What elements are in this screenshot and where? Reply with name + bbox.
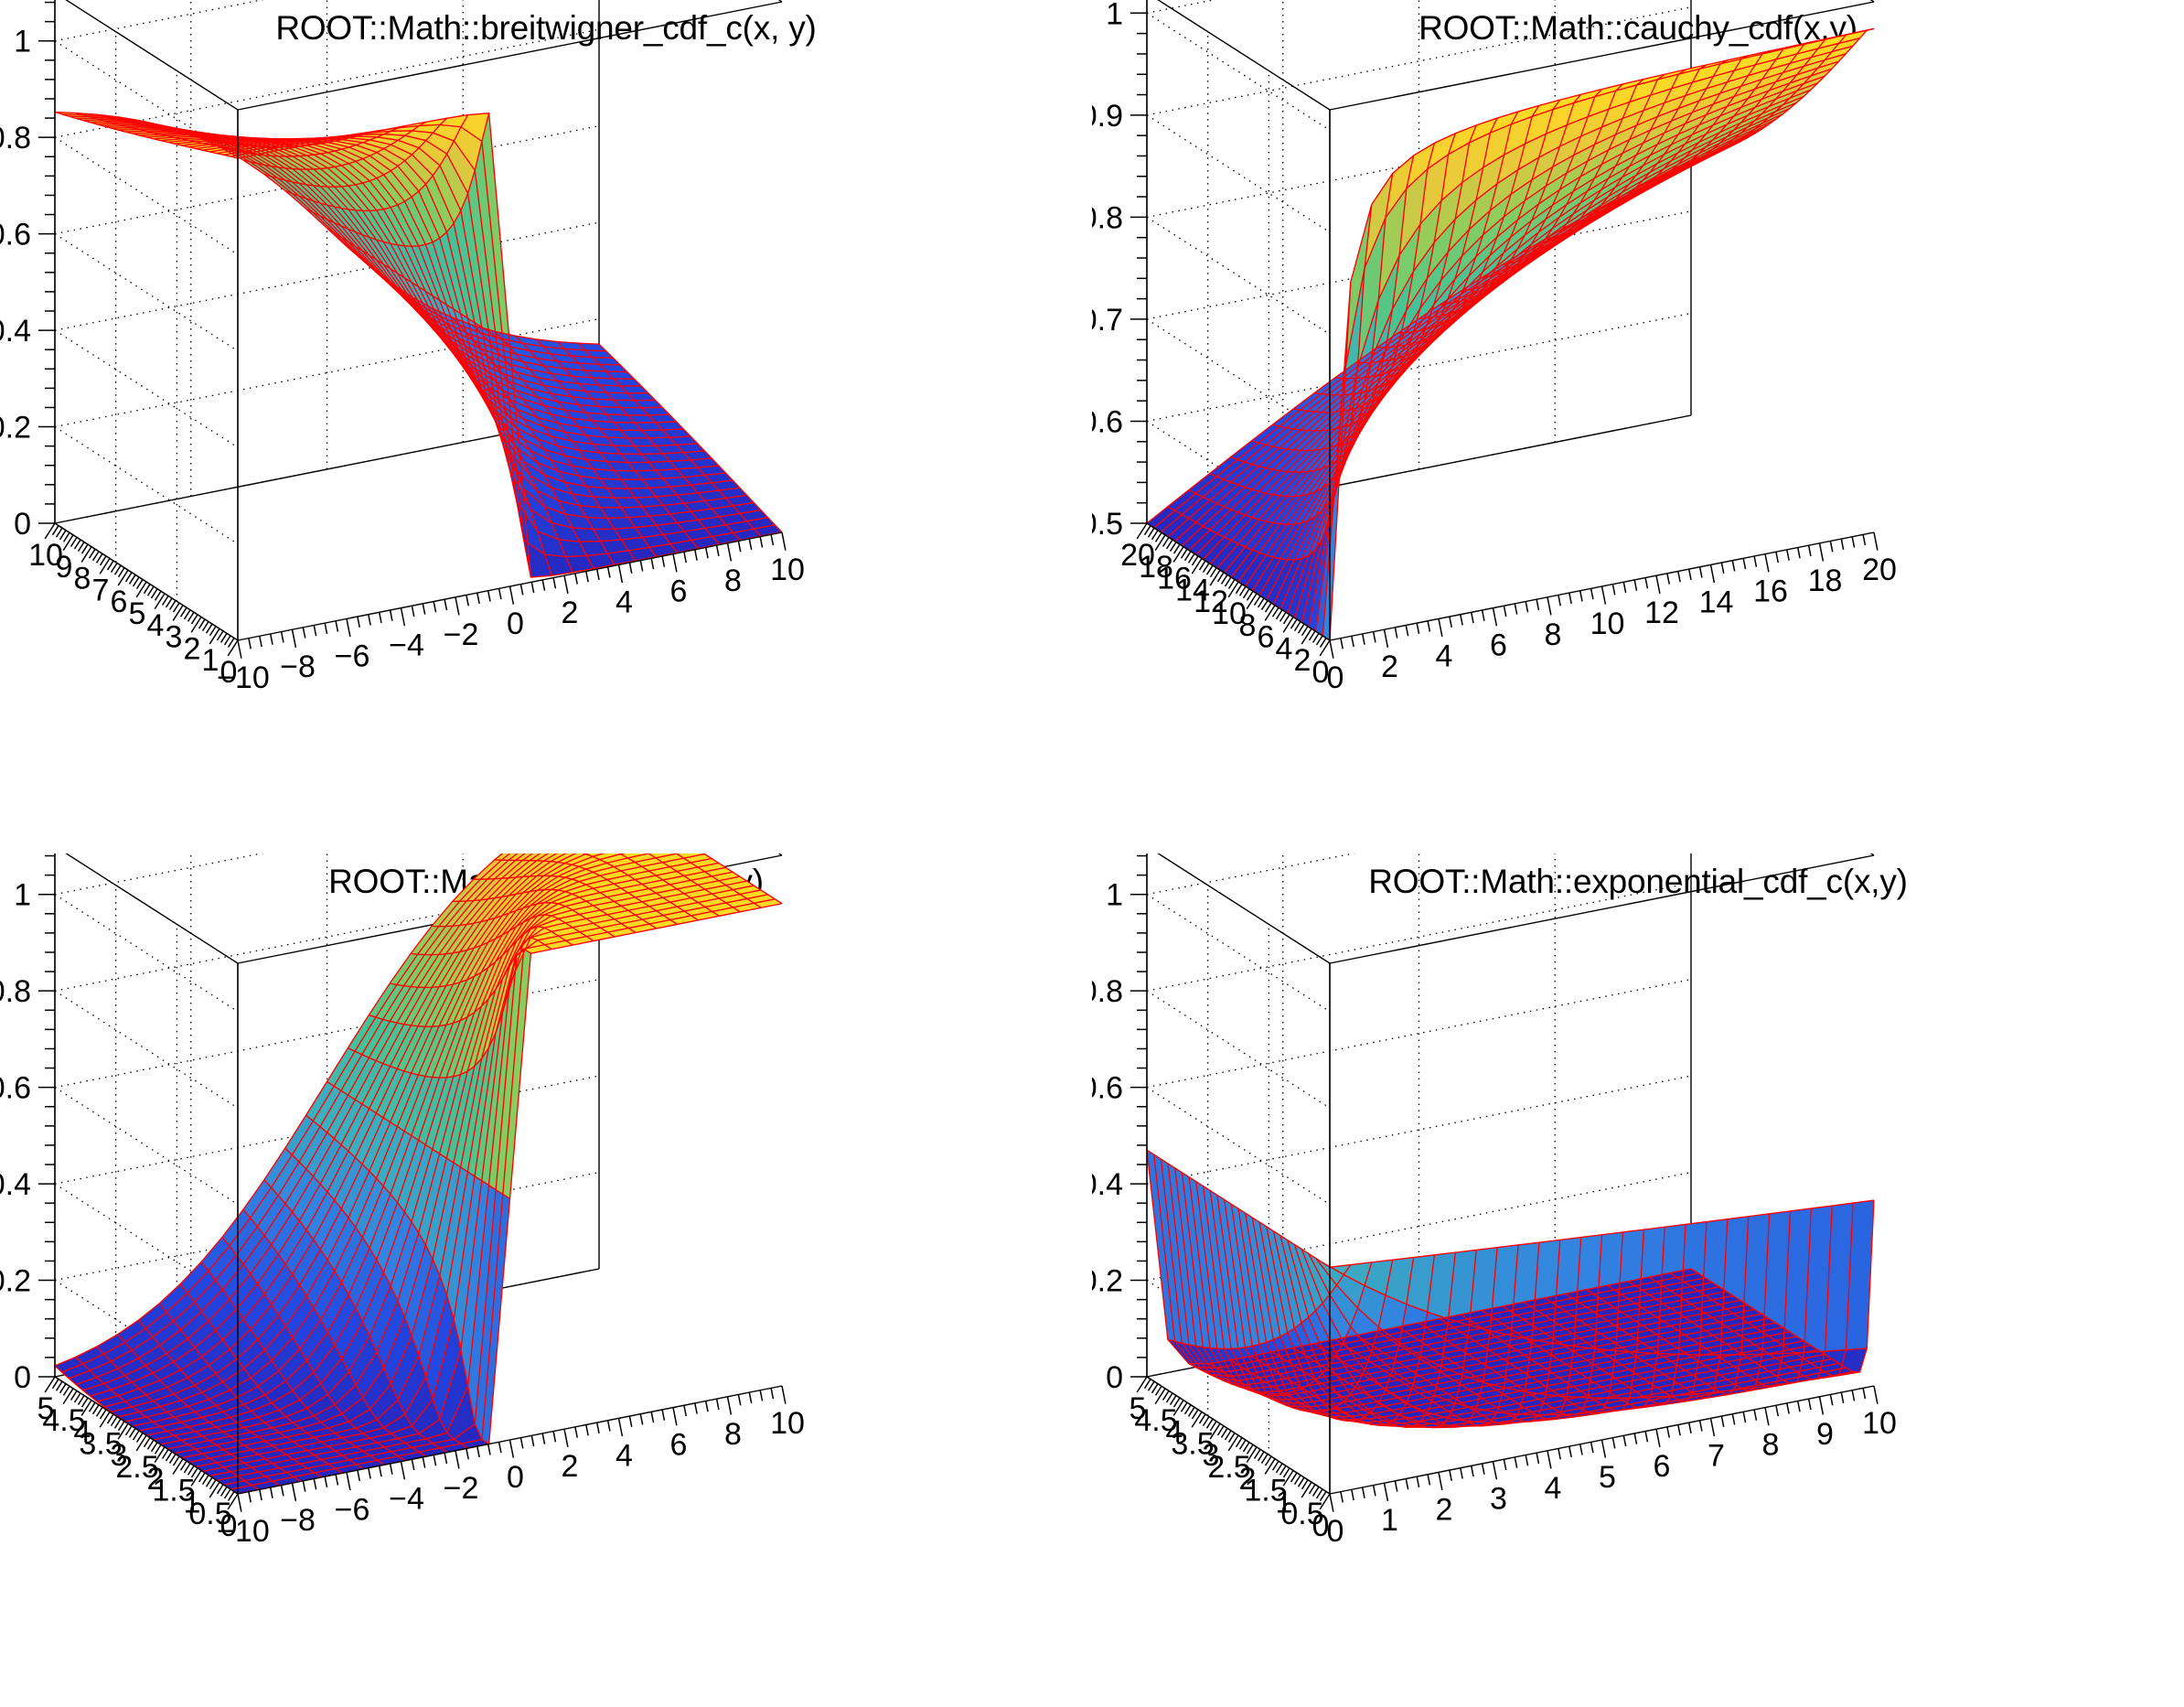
x-tick-label: −4 <box>389 1482 424 1517</box>
y-tick-label: 2 <box>184 631 201 666</box>
pad-cauchy[interactable]: ROOT::Math::cauchy_cdf(x,y) 0.50.60.70.8… <box>1092 0 2184 853</box>
x-tick-label: −4 <box>389 628 424 663</box>
z-tick-label: 1 <box>14 25 31 59</box>
figure-canvas: ROOT::Math::breitwigner_cdf_c(x, y) 00.2… <box>0 0 2184 1707</box>
surface-plot-normal[interactable]: 00.20.40.60.81−10−8−6−4−2024681054.543.5… <box>0 853 1092 1707</box>
x-tick-label: 2 <box>562 1449 579 1484</box>
z-tick-label: 0.2 <box>0 411 31 446</box>
x-tick-label: 2 <box>1381 650 1398 684</box>
z-tick-label: 0.4 <box>0 1167 31 1202</box>
x-tick-label: 4 <box>616 585 633 619</box>
x-tick-label: 7 <box>1708 1438 1725 1473</box>
z-tick-label: 0.6 <box>1092 1071 1123 1106</box>
z-tick-label: 1 <box>14 878 31 913</box>
z-tick-label: 0.8 <box>1092 974 1123 1009</box>
x-tick-label: 10 <box>1590 607 1625 641</box>
x-tick-label: −2 <box>444 617 479 652</box>
pad-normal[interactable]: ROOT::Math::normal_cdf(x,y) 00.20.40.60.… <box>0 853 1092 1707</box>
x-tick-label: 6 <box>670 1428 688 1463</box>
x-tick-label: 14 <box>1699 585 1734 619</box>
x-tick-label: 18 <box>1808 564 1843 598</box>
x-tick-label: 6 <box>670 574 688 609</box>
x-tick-label: 1 <box>1381 1503 1398 1538</box>
x-tick-label: 5 <box>1599 1460 1616 1495</box>
x-tick-label: 8 <box>724 1417 742 1452</box>
y-tick-label: 7 <box>92 573 110 607</box>
x-tick-label: 4 <box>616 1438 633 1473</box>
surface-plot-exponential[interactable]: 00.20.40.60.8101234567891054.543.532.521… <box>1092 853 2184 1707</box>
y-tick-label: 0 <box>1312 655 1330 690</box>
z-tick-label: 0.4 <box>1092 1167 1123 1202</box>
y-tick-label: 4 <box>147 608 165 643</box>
z-tick-label: 0.9 <box>1092 99 1123 134</box>
x-tick-label: 6 <box>1490 628 1507 663</box>
y-tick-label: 8 <box>1239 608 1257 643</box>
z-tick-label: 0.6 <box>0 1071 31 1106</box>
x-tick-label: 20 <box>1862 553 1897 587</box>
z-tick-label: 0.7 <box>1092 303 1123 338</box>
z-tick-label: 0.2 <box>0 1264 31 1299</box>
z-tick-label: 1 <box>1106 878 1123 913</box>
x-tick-label: 2 <box>1436 1492 1453 1527</box>
y-tick-label: 6 <box>1258 620 1275 655</box>
x-tick-label: 4 <box>1436 639 1453 673</box>
x-tick-label: 10 <box>1862 1406 1897 1441</box>
y-tick-label: 4 <box>1276 631 1293 666</box>
pad-exponential[interactable]: ROOT::Math::exponential_cdf_c(x,y) 00.20… <box>1092 853 2184 1707</box>
z-tick-label: 0.6 <box>1092 404 1123 439</box>
x-tick-label: −6 <box>335 639 370 673</box>
x-tick-label: −8 <box>280 650 316 684</box>
z-tick-label: 0.5 <box>1092 507 1123 542</box>
z-tick-label: 0.4 <box>0 314 31 349</box>
y-tick-label: 2 <box>1294 643 1311 678</box>
y-tick-label: 8 <box>74 562 91 596</box>
x-tick-label: 10 <box>770 1406 805 1441</box>
x-tick-label: 8 <box>1762 1428 1780 1463</box>
x-tick-label: 8 <box>724 564 742 598</box>
x-tick-label: 3 <box>1490 1482 1507 1517</box>
z-tick-label: 1 <box>1106 0 1123 31</box>
y-tick-label: 1 <box>202 643 219 678</box>
y-tick-label: 9 <box>56 550 73 585</box>
x-tick-label: −2 <box>444 1471 479 1506</box>
x-tick-label: 12 <box>1644 596 1679 630</box>
y-tick-label: 6 <box>111 585 128 619</box>
y-tick-label: 0 <box>220 655 238 690</box>
x-tick-label: 8 <box>1545 617 1562 652</box>
x-tick-label: 6 <box>1654 1449 1671 1484</box>
z-tick-label: 0.6 <box>0 218 31 252</box>
x-tick-label: 4 <box>1545 1471 1562 1506</box>
surface-plot-breitwigner[interactable]: 00.20.40.60.81−10−8−6−4−2024681010987654… <box>0 0 1092 853</box>
x-tick-label: 0 <box>507 607 524 641</box>
pad-breitwigner[interactable]: ROOT::Math::breitwigner_cdf_c(x, y) 00.2… <box>0 0 1092 853</box>
x-tick-label: 10 <box>770 553 805 587</box>
y-tick-label: 3 <box>166 620 183 655</box>
z-tick-label: 0.8 <box>0 121 31 156</box>
x-tick-label: 9 <box>1816 1417 1834 1452</box>
z-tick-label: 0.8 <box>1092 200 1123 235</box>
z-tick-label: 0.8 <box>0 974 31 1009</box>
z-tick-label: 0 <box>14 507 31 542</box>
z-tick-label: 0 <box>14 1360 31 1395</box>
x-tick-label: −6 <box>335 1492 370 1527</box>
z-tick-label: 0.2 <box>1092 1264 1123 1299</box>
x-tick-label: 16 <box>1753 574 1788 609</box>
x-tick-label: −8 <box>280 1503 316 1538</box>
y-tick-label: 5 <box>129 596 146 631</box>
x-tick-label: 2 <box>562 596 579 630</box>
y-tick-label: 0 <box>220 1508 238 1543</box>
z-tick-label: 0 <box>1106 1360 1123 1395</box>
x-tick-label: 0 <box>507 1460 524 1495</box>
surface-plot-cauchy[interactable]: 0.50.60.70.80.91024681012141618202018161… <box>1092 0 2184 853</box>
y-tick-label: 0 <box>1312 1508 1330 1543</box>
